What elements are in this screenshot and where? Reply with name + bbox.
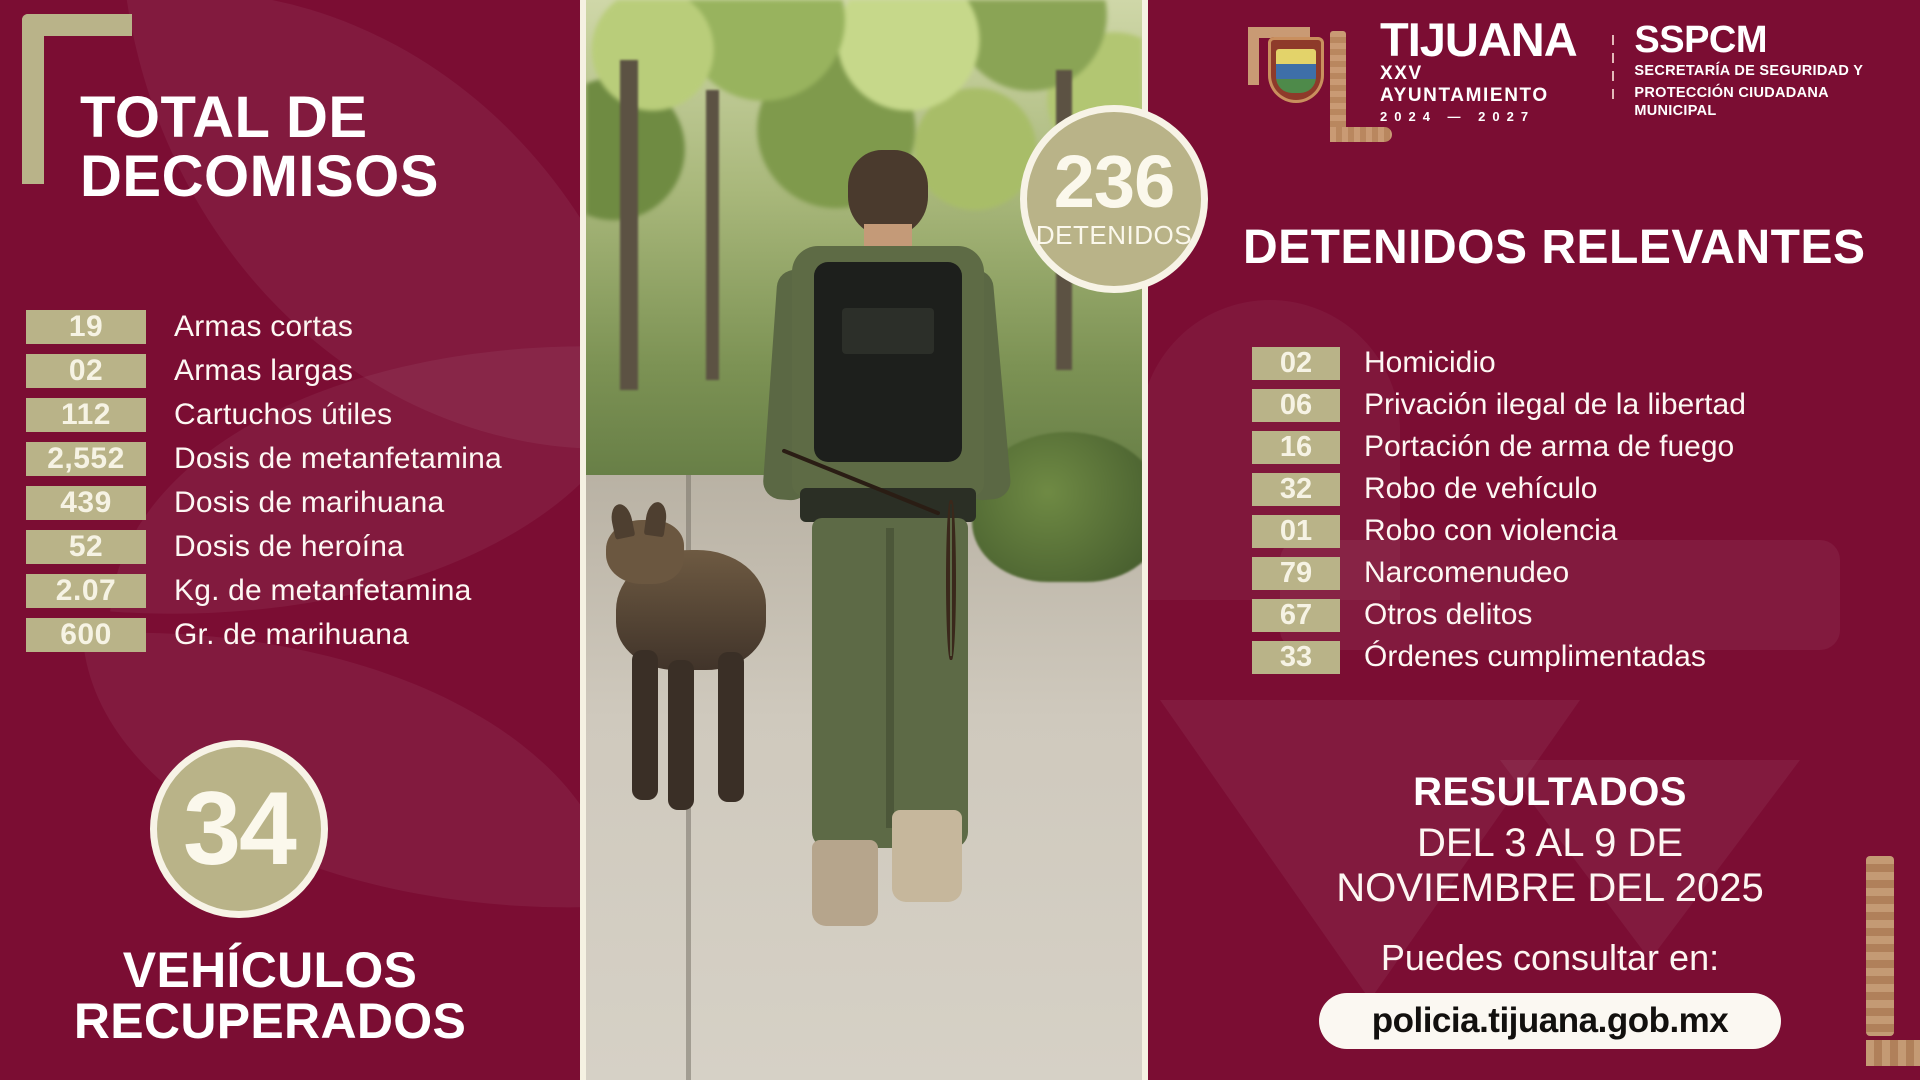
results-dates: DEL 3 AL 9 DE NOVIEMBRE DEL 2025 bbox=[1240, 821, 1860, 911]
stat-value-badge: 439 bbox=[26, 486, 146, 520]
detained-total-badge: 236 DETENIDOS bbox=[1020, 105, 1208, 293]
crime-label: Portación de arma de fuego bbox=[1364, 430, 1734, 464]
stat-label: Dosis de marihuana bbox=[174, 486, 444, 520]
left-panel: TOTAL DE DECOMISOS 19 Armas cortas 02 Ar… bbox=[0, 0, 580, 1080]
institutional-logo: TIJUANA XXV AYUNTAMIENTO 2024 — 2027 SSP… bbox=[1248, 22, 1908, 120]
results-title: RESULTADOS bbox=[1240, 770, 1860, 815]
stat-label: Kg. de metanfetamina bbox=[174, 574, 472, 608]
list-item: 112 Cartuchos útiles bbox=[26, 393, 566, 437]
crime-value-badge: 06 bbox=[1252, 389, 1340, 422]
dog-leg bbox=[632, 650, 658, 800]
crime-value-badge: 02 bbox=[1252, 347, 1340, 380]
logo-department-block: SSPCM SECRETARÍA DE SEGURIDAD Y PROTECCI… bbox=[1634, 21, 1908, 122]
tower-icon bbox=[1330, 31, 1346, 135]
officer-tactical-vest bbox=[814, 262, 962, 462]
list-item: 2,552 Dosis de metanfetamina bbox=[26, 437, 566, 481]
stat-value-badge: 02 bbox=[26, 354, 146, 388]
photo-police-dog bbox=[606, 520, 786, 880]
title-line-2: DECOMISOS bbox=[80, 147, 550, 206]
crime-value-badge: 01 bbox=[1252, 515, 1340, 548]
list-item: 16 Portación de arma de fuego bbox=[1252, 426, 1912, 468]
list-item: 79 Narcomenudeo bbox=[1252, 552, 1912, 594]
results-dates-line-1: DEL 3 AL 9 DE bbox=[1240, 821, 1860, 866]
detained-section-title: DETENIDOS RELEVANTES bbox=[1243, 220, 1903, 275]
logo-ayuntamiento: XXV AYUNTAMIENTO bbox=[1380, 63, 1592, 107]
stat-label: Cartuchos útiles bbox=[174, 398, 392, 432]
vehicles-caption-line-2: RECUPERADOS bbox=[60, 996, 480, 1047]
crime-label: Robo de vehículo bbox=[1364, 472, 1598, 506]
officer-legs bbox=[812, 518, 968, 848]
results-block: RESULTADOS DEL 3 AL 9 DE NOVIEMBRE DEL 2… bbox=[1240, 770, 1860, 1049]
list-item: 02 Homicidio bbox=[1252, 342, 1912, 384]
crime-value-badge: 79 bbox=[1252, 557, 1340, 590]
officer-boot bbox=[892, 810, 962, 902]
stat-value-badge: 19 bbox=[26, 310, 146, 344]
shield-icon bbox=[1268, 37, 1324, 103]
tijuana-coat-of-arms-icon bbox=[1248, 23, 1366, 119]
stat-label: Gr. de marihuana bbox=[174, 618, 409, 652]
vehicles-caption: VEHÍCULOS RECUPERADOS bbox=[60, 945, 480, 1047]
list-item: 33 Órdenes cumplimentadas bbox=[1252, 636, 1912, 678]
crime-value-badge: 67 bbox=[1252, 599, 1340, 632]
logo-term-years: 2024 — 2027 bbox=[1380, 109, 1592, 124]
logo-divider bbox=[1612, 35, 1614, 107]
logo-department-line-2: PROTECCIÓN CIUDADANA MUNICIPAL bbox=[1634, 84, 1908, 122]
list-item: 19 Armas cortas bbox=[26, 305, 566, 349]
title-line-1: TOTAL DE bbox=[80, 88, 550, 147]
photo-police-officer bbox=[756, 150, 1016, 940]
stat-label: Armas largas bbox=[174, 354, 353, 388]
list-item: 439 Dosis de marihuana bbox=[26, 481, 566, 525]
photo-tree-trunk bbox=[620, 60, 638, 390]
vehicles-caption-line-1: VEHÍCULOS bbox=[60, 945, 480, 996]
seizures-list: 19 Armas cortas 02 Armas largas 112 Cart… bbox=[26, 305, 566, 657]
detained-count: 236 bbox=[1054, 147, 1174, 217]
stat-label: Dosis de heroína bbox=[174, 530, 404, 564]
detained-caption: DETENIDOS bbox=[1036, 220, 1192, 251]
crime-label: Otros delitos bbox=[1364, 598, 1532, 632]
crime-label: Narcomenudeo bbox=[1364, 556, 1569, 590]
website-url-button[interactable]: policia.tijuana.gob.mx bbox=[1319, 993, 1781, 1049]
logo-department-line-1: SECRETARÍA DE SEGURIDAD Y bbox=[1634, 62, 1908, 81]
dog-leg bbox=[668, 660, 694, 810]
photo-tree-trunk bbox=[706, 90, 719, 380]
vehicles-count: 34 bbox=[183, 777, 295, 881]
vehicles-recovered-badge: 34 bbox=[150, 740, 328, 918]
crime-value-badge: 16 bbox=[1252, 431, 1340, 464]
list-item: 2.07 Kg. de metanfetamina bbox=[26, 569, 566, 613]
logo-text-block: TIJUANA XXV AYUNTAMIENTO 2024 — 2027 bbox=[1380, 18, 1592, 123]
crime-label: Órdenes cumplimentadas bbox=[1364, 640, 1706, 674]
stat-value-badge: 52 bbox=[26, 530, 146, 564]
page-title: TOTAL DE DECOMISOS bbox=[80, 88, 550, 206]
logo-acronym: SSPCM bbox=[1634, 21, 1908, 59]
crimes-list: 02 Homicidio 06 Privación ilegal de la l… bbox=[1252, 342, 1912, 678]
crime-value-badge: 32 bbox=[1252, 473, 1340, 506]
stat-label: Dosis de metanfetamina bbox=[174, 442, 502, 476]
stat-value-badge: 600 bbox=[26, 618, 146, 652]
stat-value-badge: 2,552 bbox=[26, 442, 146, 476]
list-item: 06 Privación ilegal de la libertad bbox=[1252, 384, 1912, 426]
consult-label: Puedes consultar en: bbox=[1240, 937, 1860, 979]
list-item: 01 Robo con violencia bbox=[1252, 510, 1912, 552]
list-item: 67 Otros delitos bbox=[1252, 594, 1912, 636]
stat-value-badge: 2.07 bbox=[26, 574, 146, 608]
list-item: 32 Robo de vehículo bbox=[1252, 468, 1912, 510]
list-item: 02 Armas largas bbox=[26, 349, 566, 393]
results-dates-line-2: NOVIEMBRE DEL 2025 bbox=[1240, 866, 1860, 911]
list-item: 600 Gr. de marihuana bbox=[26, 613, 566, 657]
coiled-leash bbox=[946, 500, 956, 660]
infographic-canvas: TOTAL DE DECOMISOS 19 Armas cortas 02 Ar… bbox=[0, 0, 1920, 1080]
dog-leg bbox=[718, 652, 744, 802]
logo-city-name: TIJUANA bbox=[1380, 18, 1592, 62]
crime-label: Homicidio bbox=[1364, 346, 1496, 380]
officer-boot bbox=[812, 840, 878, 926]
crime-label: Robo con violencia bbox=[1364, 514, 1618, 548]
stat-value-badge: 112 bbox=[26, 398, 146, 432]
list-item: 52 Dosis de heroína bbox=[26, 525, 566, 569]
crime-value-badge: 33 bbox=[1252, 641, 1340, 674]
crime-label: Privación ilegal de la libertad bbox=[1364, 388, 1746, 422]
tower-decoration-icon bbox=[1866, 856, 1894, 1036]
stat-label: Armas cortas bbox=[174, 310, 353, 344]
